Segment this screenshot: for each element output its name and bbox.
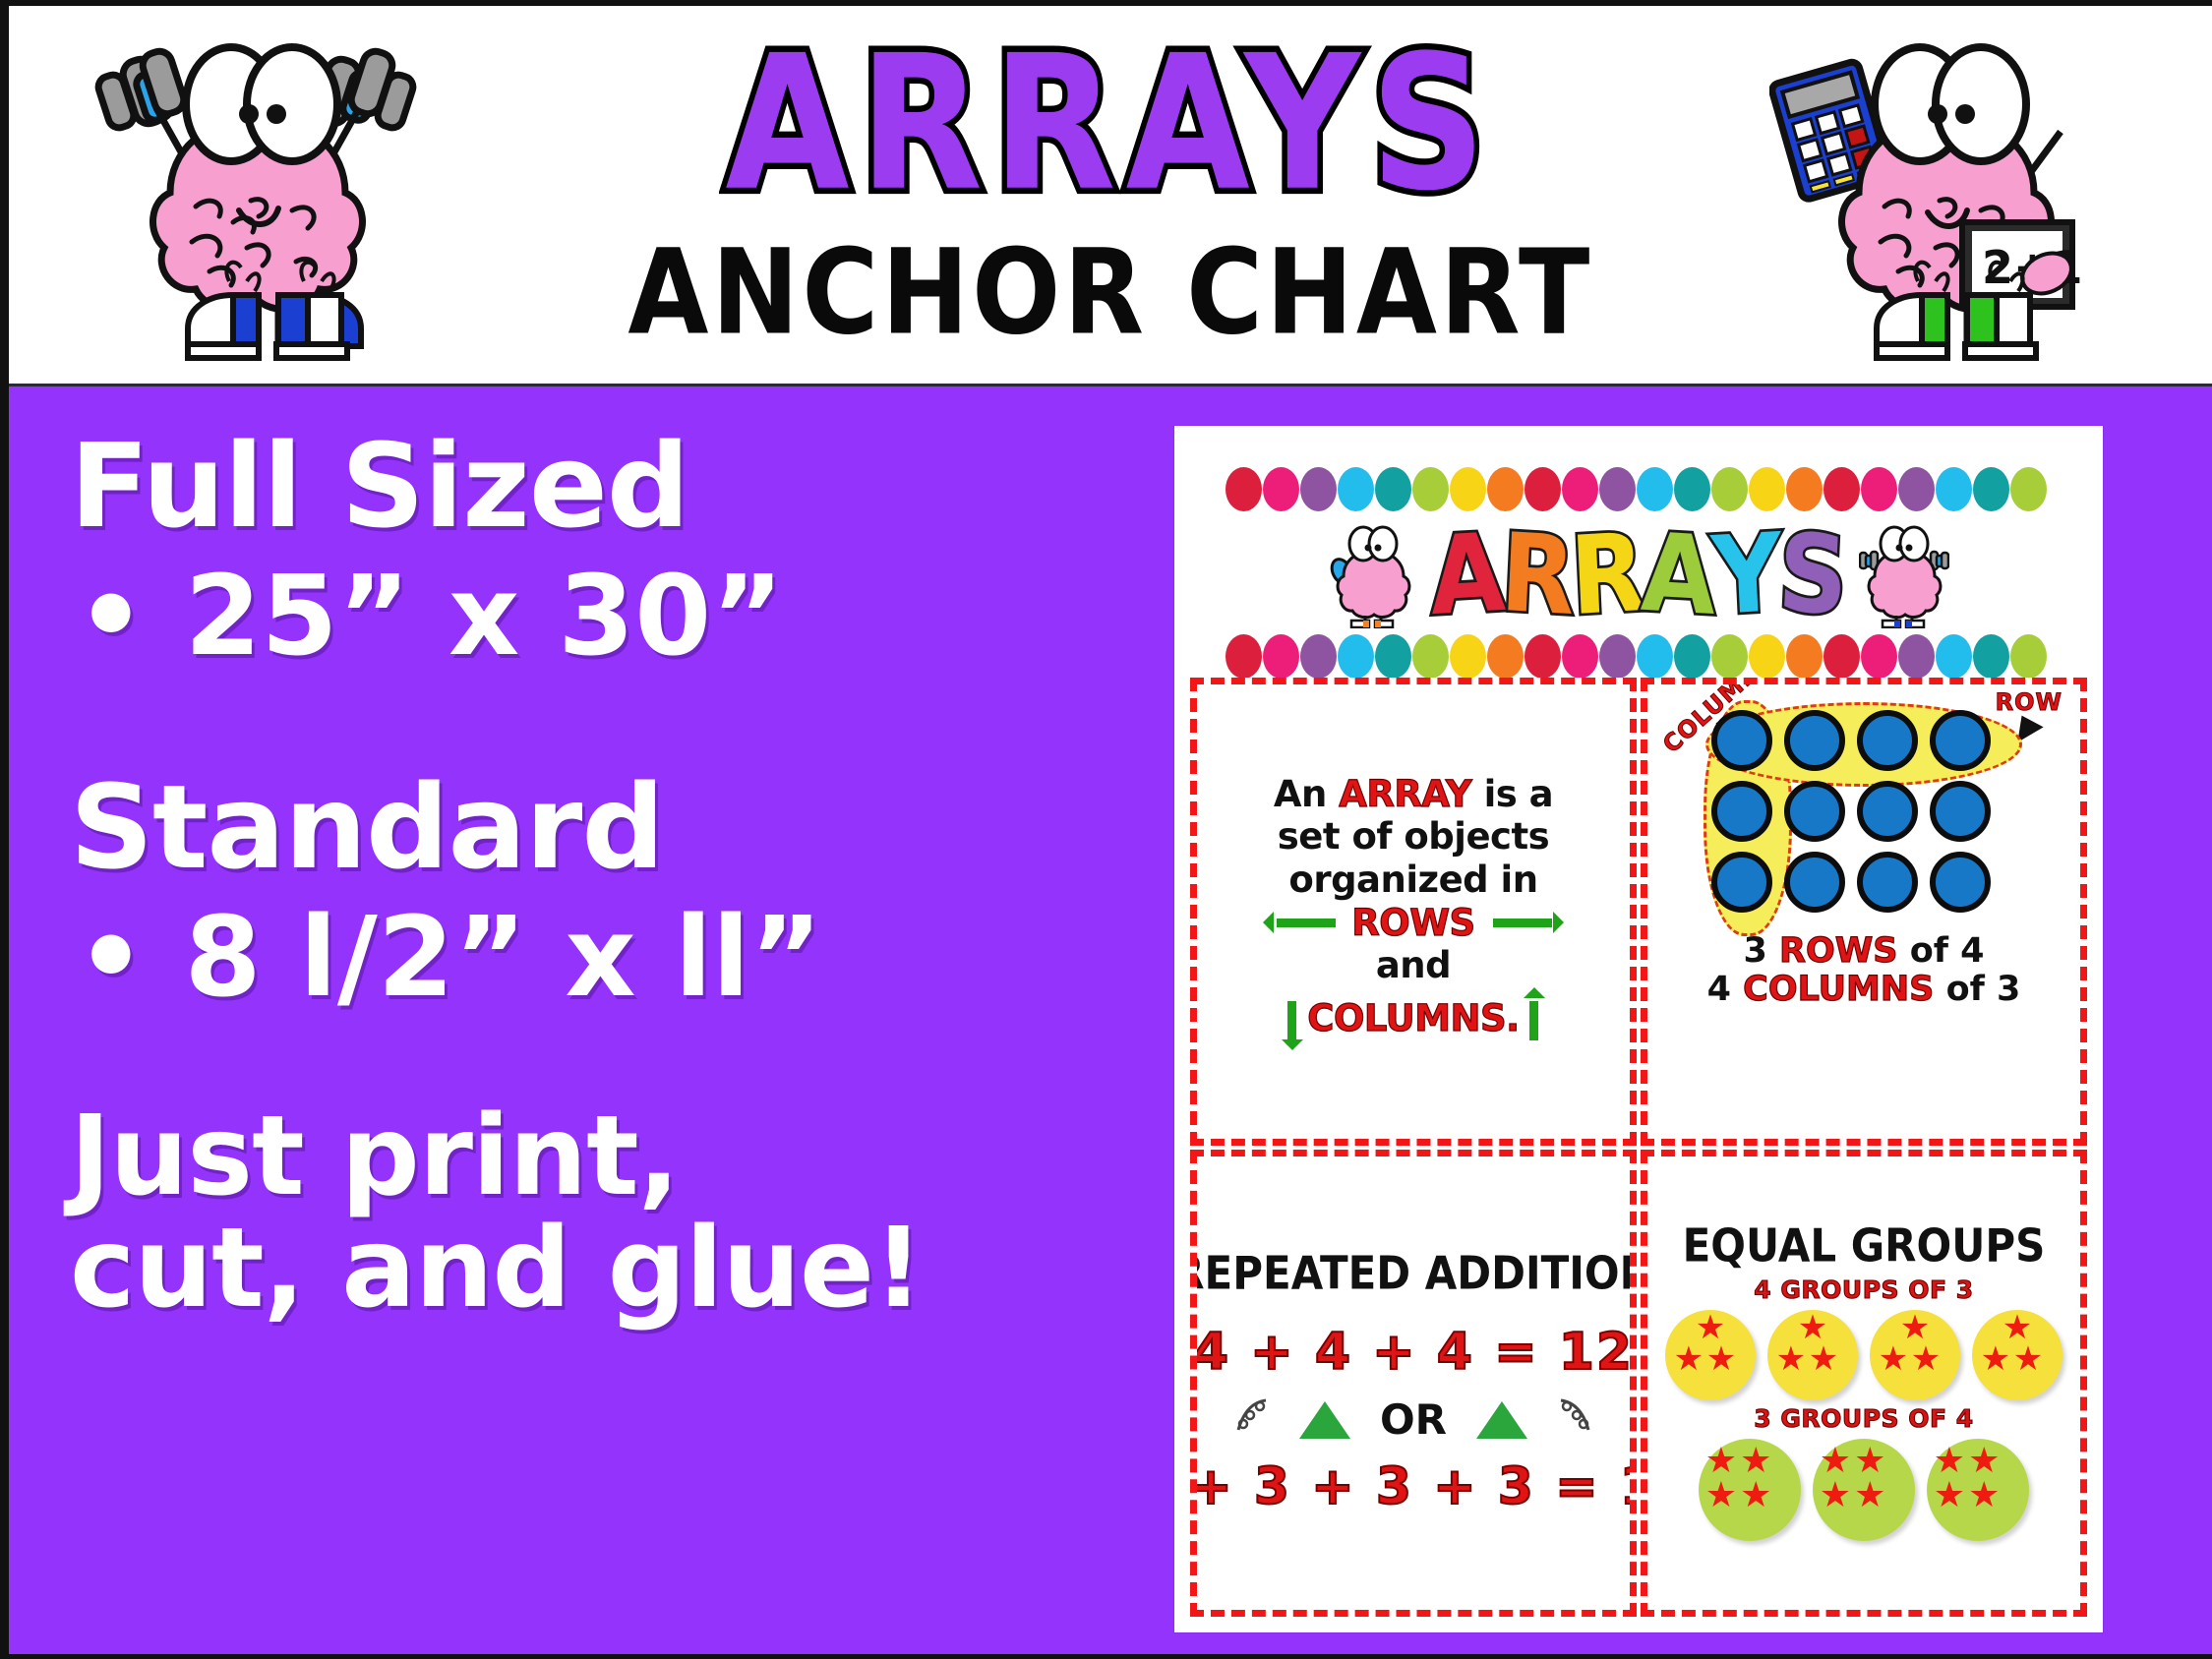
border-dot [1936, 634, 1972, 679]
quadrant-array-model: COLUMN ROW 3 ROWS of 4 4 COLUMNS of 3 [1641, 678, 2087, 1146]
equal-group-circle: ★★★ [1972, 1310, 2063, 1400]
border-dot [1524, 634, 1561, 679]
border-dot [1786, 467, 1823, 511]
group-star-icon: ★ [1705, 1478, 1737, 1513]
border-dot [1562, 634, 1598, 679]
group-star-icon: ★ [1740, 1444, 1771, 1479]
border-dot [1637, 467, 1673, 511]
border-dot [1263, 467, 1299, 511]
border-dot [1898, 634, 1935, 679]
header-title-wrap: ARRAYS ANCHOR CHART [471, 6, 1750, 386]
border-dot [2010, 634, 2047, 679]
group-star-icon: ★ [1674, 1342, 1704, 1376]
border-dot [1786, 634, 1823, 679]
border-dot [1861, 467, 1897, 511]
border-dot [1674, 634, 1710, 679]
array-dot [1711, 781, 1772, 842]
equal-groups-caption-bottom: 3 GROUPS OF 4 [1754, 1404, 1973, 1433]
border-dot [1861, 634, 1897, 679]
border-dot [1375, 634, 1411, 679]
array-dot [1711, 710, 1772, 771]
border-dot [2010, 467, 2047, 511]
brain-character-dumbbells-icon [86, 14, 430, 380]
equal-groups-heading: EQUAL GROUPS [1683, 1218, 2046, 1272]
array-caption-columns: 4 COLUMNS of 3 [1707, 971, 2021, 1009]
array-dot [1930, 710, 1991, 771]
equal-group-circle: ★★★★ [1927, 1439, 2029, 1541]
border-dot [1450, 634, 1486, 679]
mini-brain-left-icon [1328, 522, 1418, 628]
array-dot [1784, 710, 1845, 771]
arrow-down-icon [1282, 987, 1303, 1050]
squiggle-left-icon [1217, 1396, 1270, 1444]
border-dot [1338, 467, 1374, 511]
border-dot [1973, 467, 2009, 511]
squiggle-right-icon [1557, 1396, 1610, 1444]
array-dot-grid [1711, 710, 2001, 920]
border-dot [1487, 634, 1524, 679]
wordmark-letter: R [1569, 519, 1647, 631]
quadrant-equal-groups: EQUAL GROUPS 4 GROUPS OF 3 ★★★★★★★★★★★★ … [1641, 1150, 2087, 1618]
group-star-icon: ★ [1854, 1444, 1885, 1479]
border-dot [1338, 634, 1374, 679]
mini-brain-right-icon [1859, 522, 1949, 628]
definition-line-3: organized in [1288, 859, 1537, 902]
wordmark-letter: A [1639, 519, 1718, 631]
border-dot [1263, 634, 1299, 679]
border-dot [1412, 634, 1449, 679]
equal-groups-caption-top: 4 GROUPS OF 3 [1754, 1275, 1973, 1304]
array-dot [1930, 781, 1991, 842]
equal-group-circle: ★★★ [1767, 1310, 1858, 1400]
anchor-chart-quadrants: An ARRAY is a set of objects organized i… [1190, 678, 2087, 1617]
rainbow-dot-border-bottom [1226, 634, 2060, 674]
group-star-icon: ★ [1854, 1478, 1885, 1513]
border-dot [1749, 634, 1785, 679]
border-dot [1524, 467, 1561, 511]
array-dot [1711, 852, 1772, 913]
detail-bullet-standard: • 8 l/2” x ll” [70, 902, 1145, 1014]
border-dot [1674, 467, 1710, 511]
group-star-icon: ★ [1981, 1342, 2010, 1376]
equation-bottom: 3 + 3 + 3 + 3 = 12 [1190, 1457, 1637, 1516]
header-band: ARRAYS ANCHOR CHART [9, 6, 2212, 386]
border-dot [1711, 634, 1748, 679]
group-star-icon: ★ [1820, 1478, 1851, 1513]
wordmark-letter: A [1427, 519, 1507, 631]
definition-columns-line: COLUMNS. [1282, 987, 1544, 1050]
arrow-left-icon [1263, 913, 1347, 932]
triangle-left-icon [1299, 1401, 1350, 1439]
definition-columns-word: COLUMNS. [1307, 997, 1519, 1040]
preview-title-row: ARRAYS [1174, 516, 2103, 634]
group-star-icon: ★ [1706, 1342, 1736, 1376]
anchor-chart-preview-card[interactable]: ARRAYS [1174, 426, 2103, 1632]
page-subtitle: ANCHOR CHART [628, 233, 1592, 351]
border-dot [1599, 467, 1636, 511]
detail-bullet-full-sized: • 25” x 30” [70, 561, 1145, 673]
group-star-icon: ★ [1968, 1478, 2000, 1513]
detail-heading-standard: Standard [70, 768, 1145, 886]
group-star-icon: ★ [1934, 1444, 1965, 1479]
group-star-icon: ★ [1820, 1444, 1851, 1479]
wordmark-letter: R [1498, 519, 1577, 631]
page-title: ARRAYS [725, 37, 1495, 214]
quadrant-definition: An ARRAY is a set of objects organized i… [1190, 678, 1637, 1146]
group-star-icon: ★ [2013, 1342, 2043, 1376]
definition-line-2: set of objects [1278, 815, 1549, 859]
array-dot [1930, 852, 1991, 913]
quadrant-repeated-addition: REPEATED ADDITION 4 + 4 + 4 = 12 OR [1190, 1150, 1637, 1618]
equal-group-circle: ★★★ [1870, 1310, 1960, 1400]
definition-rows-word: ROWS [1351, 902, 1474, 945]
rainbow-dot-border-top [1226, 467, 2060, 506]
brain-character-calculator-icon: 2+1 [1769, 14, 2123, 380]
definition-and-word: and [1376, 944, 1451, 987]
border-dot [1711, 467, 1748, 511]
border-dot [1300, 467, 1337, 511]
array-dot [1857, 781, 1918, 842]
array-dot [1784, 852, 1845, 913]
border-dot [1898, 467, 1935, 511]
equal-group-circle: ★★★★ [1813, 1439, 1915, 1541]
equation-top: 4 + 4 + 4 = 12 [1193, 1323, 1634, 1382]
border-dot [1973, 634, 2009, 679]
or-row: OR [1205, 1395, 1622, 1444]
group-star-icon: ★ [1809, 1342, 1838, 1376]
border-dot [1823, 467, 1860, 511]
array-dot [1857, 710, 1918, 771]
or-word: OR [1380, 1395, 1447, 1444]
wordmark-letter: Y [1709, 519, 1784, 631]
border-dot [1823, 634, 1860, 679]
group-star-icon: ★ [1776, 1342, 1806, 1376]
array-dot [1857, 852, 1918, 913]
equal-groups-row-green: ★★★★★★★★★★★★ [1699, 1439, 2029, 1541]
definition-line-1: An ARRAY is a [1274, 773, 1553, 816]
border-dot [1599, 634, 1636, 679]
arrow-up-icon [1524, 987, 1545, 1050]
group-star-icon: ★ [1911, 1342, 1941, 1376]
border-dot [1936, 467, 1972, 511]
border-dot [1637, 634, 1673, 679]
border-dot [1562, 467, 1598, 511]
equal-group-circle: ★★★ [1665, 1310, 1756, 1400]
preview-arrays-wordmark: ARRAYS [1432, 527, 1845, 623]
triangle-right-icon [1476, 1401, 1527, 1439]
border-dot [1749, 467, 1785, 511]
equal-groups-row-yellow: ★★★★★★★★★★★★ [1665, 1310, 2063, 1400]
group-star-icon: ★ [1740, 1478, 1771, 1513]
border-dot [1375, 467, 1411, 511]
arrow-right-icon [1479, 913, 1564, 932]
group-star-icon: ★ [1705, 1444, 1737, 1479]
group-star-icon: ★ [1934, 1478, 1965, 1513]
border-dot [1226, 634, 1262, 679]
arrays-anchor-chart-poster: ARRAYS ANCHOR CHART [0, 0, 2212, 1659]
group-star-icon: ★ [1968, 1444, 2000, 1479]
closing-line-2: cut, and glue! [70, 1213, 1145, 1325]
border-dot [1450, 467, 1486, 511]
definition-rows-line: ROWS [1263, 902, 1563, 945]
border-dot [1300, 634, 1337, 679]
equal-group-circle: ★★★★ [1699, 1439, 1801, 1541]
array-dot [1784, 781, 1845, 842]
group-star-icon: ★ [1879, 1342, 1908, 1376]
array-dot-stage [1711, 710, 2016, 928]
array-caption-rows: 3 ROWS of 4 [1743, 932, 1984, 971]
border-dot [1412, 467, 1449, 511]
repeated-addition-heading: REPEATED ADDITION [1190, 1247, 1637, 1300]
product-details-panel: Full Sized • 25” x 30” Standard • 8 l/2”… [9, 389, 1165, 1659]
border-dot [1226, 467, 1262, 511]
detail-heading-full-sized: Full Sized [70, 427, 1145, 545]
wordmark-letter: S [1775, 519, 1850, 631]
border-dot [1487, 467, 1524, 511]
closing-line-1: Just print, [70, 1100, 1145, 1213]
